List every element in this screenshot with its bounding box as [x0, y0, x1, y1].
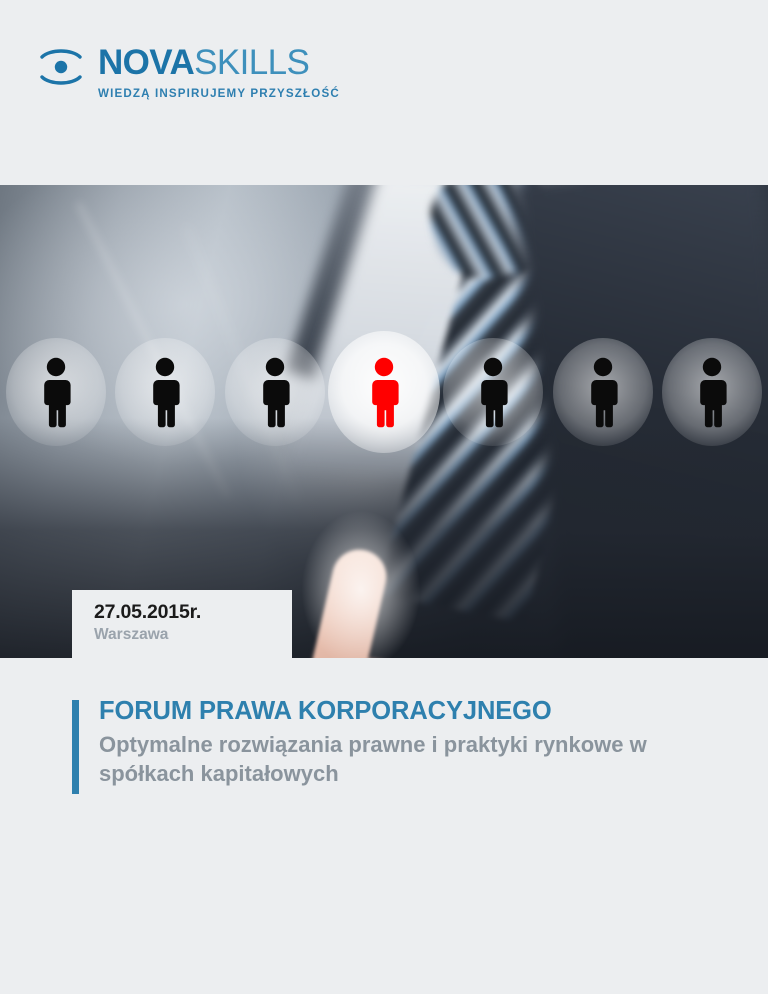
- brand-tagline: WIEDZĄ INSPIRUJEMY PRZYSZŁOŚĆ: [98, 87, 340, 100]
- person-icon-7[interactable]: [662, 332, 762, 452]
- person-icon-row: [0, 332, 768, 452]
- brand-wordmark: NOVASKILLS: [98, 45, 340, 80]
- person-icon: [471, 356, 515, 428]
- person-icon-3[interactable]: [225, 332, 325, 452]
- date-badge: 27.05.2015r. Warszawa: [72, 590, 292, 658]
- person-icon: [690, 356, 734, 428]
- person-icon: [253, 356, 297, 428]
- eye-logo-mark: [38, 44, 84, 90]
- person-icon-highlighted: [362, 356, 406, 428]
- page-header: NOVASKILLS WIEDZĄ INSPIRUJEMY PRZYSZŁOŚĆ: [0, 0, 768, 185]
- event-city: Warszawa: [94, 625, 292, 644]
- person-icon-2[interactable]: [115, 332, 215, 452]
- event-flyer-page: NOVASKILLS WIEDZĄ INSPIRUJEMY PRZYSZŁOŚĆ: [0, 0, 768, 994]
- title-texts: FORUM PRAWA KORPORACYJNEGO Optymalne roz…: [72, 696, 712, 789]
- page-title: FORUM PRAWA KORPORACYJNEGO: [99, 696, 712, 726]
- person-icon-4-selected[interactable]: [334, 332, 434, 452]
- person-icon: [34, 356, 78, 428]
- person-icon: [581, 356, 625, 428]
- event-title-block: FORUM PRAWA KORPORACYJNEGO Optymalne roz…: [72, 696, 712, 789]
- brand-logo[interactable]: NOVASKILLS WIEDZĄ INSPIRUJEMY PRZYSZŁOŚĆ: [38, 44, 340, 100]
- person-icon: [143, 356, 187, 428]
- brand-wordmark-secondary: SKILLS: [194, 43, 309, 82]
- event-date: 27.05.2015r.: [94, 601, 292, 623]
- brand-text: NOVASKILLS WIEDZĄ INSPIRUJEMY PRZYSZŁOŚĆ: [98, 44, 340, 100]
- person-icon-6[interactable]: [553, 332, 653, 452]
- person-icon-1[interactable]: [6, 332, 106, 452]
- fingertip-glow: [301, 510, 421, 658]
- page-subtitle: Optymalne rozwiązania prawne i praktyki …: [99, 730, 659, 789]
- brand-wordmark-primary: NOVA: [98, 43, 194, 82]
- title-accent-bar: [72, 700, 79, 794]
- hero-photo: 27.05.2015r. Warszawa: [0, 185, 768, 658]
- person-icon-5[interactable]: [443, 332, 543, 452]
